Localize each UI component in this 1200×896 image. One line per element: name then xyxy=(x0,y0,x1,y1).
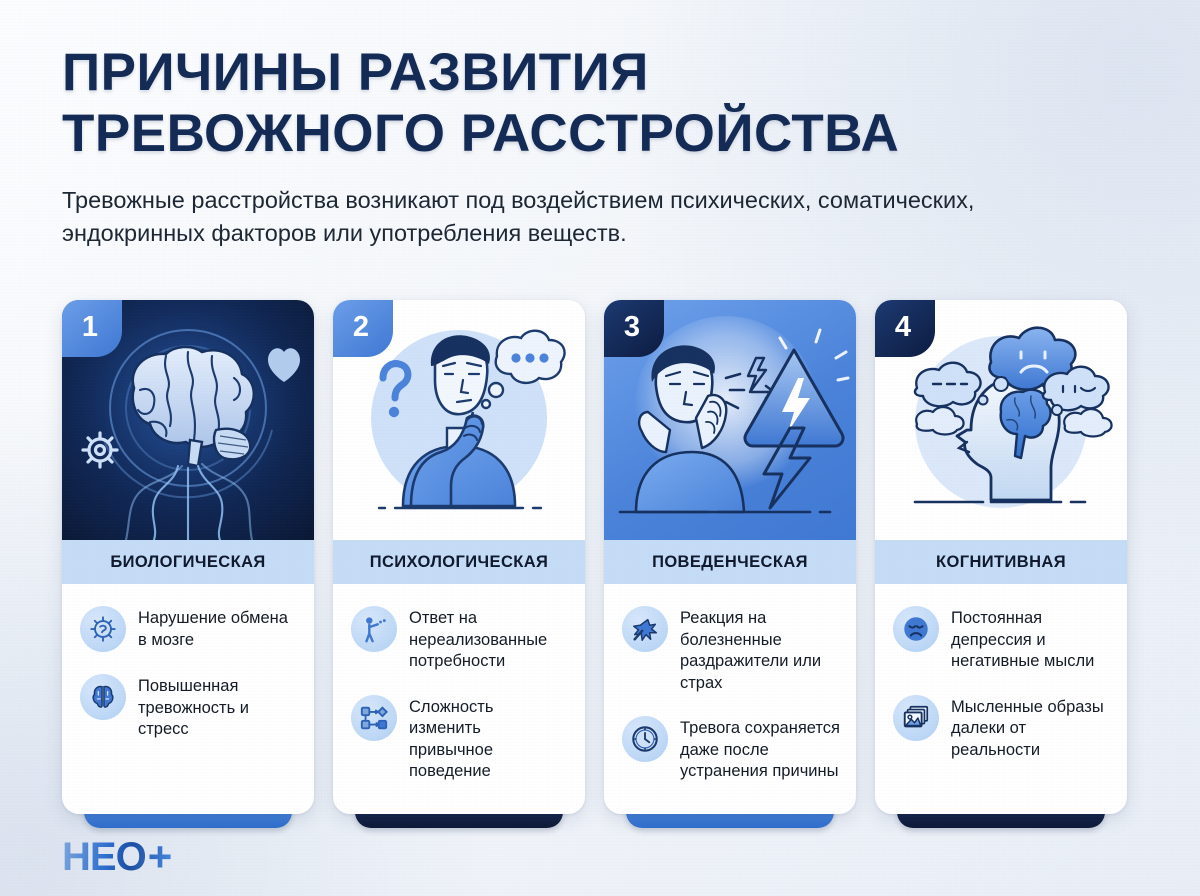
cards-row: 1 xyxy=(62,300,1140,840)
card-label-band: ПОВЕДЕНЧЕСКАЯ xyxy=(604,540,856,584)
card-number-badge: 4 xyxy=(875,300,935,357)
card-number-badge: 2 xyxy=(333,300,393,357)
bullet-text: Нарушение обмена в мозге xyxy=(138,606,298,651)
card-body: 4 xyxy=(875,300,1127,814)
card-body: 3 xyxy=(604,300,856,814)
card-body: 2 xyxy=(333,300,585,814)
bullet-item: Повышенная тревожность и стресс xyxy=(80,674,298,741)
bullet-text: Тревога сохраняется даже после устранени… xyxy=(680,716,840,783)
clock-icon xyxy=(622,716,668,762)
card-label: ПОВЕДЕНЧЕСКАЯ xyxy=(652,553,808,572)
brand-logo: НЕО+ xyxy=(62,833,171,881)
page-subtitle: Тревожные расстройства возникают под воз… xyxy=(62,184,1062,250)
bullet-text: Повышенная тревожность и стресс xyxy=(138,674,298,741)
gear-brain-icon xyxy=(80,606,126,652)
header: ПРИЧИНЫ РАЗВИТИЯ ТРЕВОЖНОГО РАССТРОЙСТВА… xyxy=(62,46,1122,250)
card-bullets: Постоянная депрессия и негативные мысли xyxy=(875,584,1127,761)
card-psychological[interactable]: 2 xyxy=(333,300,585,828)
bullet-text: Мысленные образы далеки от реальности xyxy=(951,695,1111,762)
person-reaching-icon xyxy=(351,606,397,652)
card-bullets: Реакция на болезненные раздражители или … xyxy=(604,584,856,783)
card-label: ПСИХОЛОГИЧЕСКАЯ xyxy=(370,553,549,572)
card-label-band: КОГНИТИВНАЯ xyxy=(875,540,1127,584)
page-title-line-1: ПРИЧИНЫ РАЗВИТИЯ xyxy=(62,43,649,102)
flowchart-icon xyxy=(351,695,397,741)
brain-icon xyxy=(80,674,126,720)
infographic-page: ПРИЧИНЫ РАЗВИТИЯ ТРЕВОЖНОГО РАССТРОЙСТВА… xyxy=(0,0,1200,896)
bullet-item: Сложность изменить привычное поведение xyxy=(351,695,569,783)
page-title-line-2: ТРЕВОЖНОГО РАССТРОЙСТВА xyxy=(62,107,1122,160)
card-illustration-head-thought-clouds: 4 xyxy=(875,300,1127,540)
sad-face-icon xyxy=(893,606,939,652)
card-label-band: БИОЛОГИЧЕСКАЯ xyxy=(62,540,314,584)
images-icon xyxy=(893,695,939,741)
page-title: ПРИЧИНЫ РАЗВИТИЯ ТРЕВОЖНОГО РАССТРОЙСТВА xyxy=(62,46,1122,160)
bullet-text: Сложность изменить привычное поведение xyxy=(409,695,569,783)
card-label: БИОЛОГИЧЕСКАЯ xyxy=(110,553,265,572)
card-behavioral[interactable]: 3 xyxy=(604,300,856,828)
bullet-item: Тревога сохраняется даже после устранени… xyxy=(622,716,840,783)
bullet-text: Реакция на болезненные раздражители или … xyxy=(680,606,840,694)
card-bullets: Нарушение обмена в мозге xyxy=(62,584,314,741)
bullet-item: Мысленные образы далеки от реальности xyxy=(893,695,1111,762)
card-number-badge: 3 xyxy=(604,300,664,357)
card-biological[interactable]: 1 xyxy=(62,300,314,828)
card-body: 1 xyxy=(62,300,314,814)
bullet-text: Постоянная депрессия и негативные мысли xyxy=(951,606,1111,673)
burst-impact-icon xyxy=(622,606,668,652)
bullet-item: Нарушение обмена в мозге xyxy=(80,606,298,652)
card-label-band: ПСИХОЛОГИЧЕСКАЯ xyxy=(333,540,585,584)
bullet-item: Реакция на болезненные раздражители или … xyxy=(622,606,840,694)
brand-plus-mark: + xyxy=(148,833,172,881)
card-illustration-startled-man-warning: 3 xyxy=(604,300,856,540)
bullet-item: Ответ на нереализованные потребности xyxy=(351,606,569,673)
card-illustration-brain-neural-network: 1 xyxy=(62,300,314,540)
card-cognitive[interactable]: 4 xyxy=(875,300,1127,828)
card-illustration-thinking-man: 2 xyxy=(333,300,585,540)
card-bullets: Ответ на нереализованные потребности xyxy=(333,584,585,783)
brand-name: НЕО xyxy=(62,835,146,880)
bullet-text: Ответ на нереализованные потребности xyxy=(409,606,569,673)
card-label: КОГНИТИВНАЯ xyxy=(936,553,1066,572)
card-number-badge: 1 xyxy=(62,300,122,357)
bullet-item: Постоянная депрессия и негативные мысли xyxy=(893,606,1111,673)
